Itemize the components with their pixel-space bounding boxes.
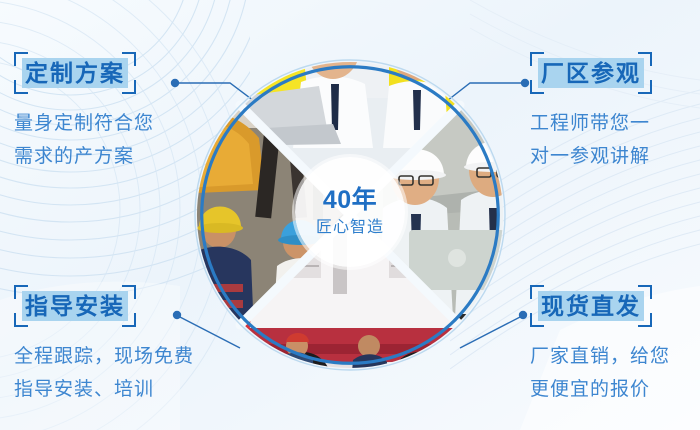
- badge-custom-solution[interactable]: 定制方案: [14, 52, 136, 94]
- center-headline: 40年: [323, 188, 377, 213]
- corner-bracket-top-right-icon: [638, 285, 652, 299]
- corner-bracket-bottom-left-icon: [14, 80, 28, 94]
- badge-label: 厂区参观: [541, 60, 641, 86]
- corner-bracket-bottom-right-icon: [638, 80, 652, 94]
- description-line: 厂家直销，给您: [530, 340, 670, 373]
- promo-banner: 40年 匠心智造 定制方案 量身定制符合您 需求的产方案 厂区参观 工程师带您一: [0, 0, 700, 430]
- description-line: 量身定制符合您: [14, 107, 154, 140]
- description-line: 需求的产方案: [14, 140, 154, 173]
- feature-description: 量身定制符合您 需求的产方案: [14, 107, 154, 173]
- corner-bracket-bottom-right-icon: [122, 313, 136, 327]
- corner-bracket-top-right-icon: [122, 52, 136, 66]
- feature-installation-guidance[interactable]: 指导安装 全程跟踪，现场免费 指导安装、培训: [14, 285, 194, 406]
- badge-in-stock-shipping[interactable]: 现货直发: [530, 285, 652, 327]
- corner-bracket-bottom-right-icon: [122, 80, 136, 94]
- corner-bracket-top-left-icon: [14, 52, 28, 66]
- badge-label: 指导安装: [25, 293, 125, 319]
- description-line: 工程师带您一: [530, 107, 652, 140]
- corner-bracket-bottom-left-icon: [530, 313, 544, 327]
- feature-description: 全程跟踪，现场免费 指导安装、培训: [14, 340, 194, 406]
- description-line: 全程跟踪，现场免费: [14, 340, 194, 373]
- corner-bracket-top-left-icon: [530, 285, 544, 299]
- feature-description: 工程师带您一 对一参观讲解: [530, 107, 652, 173]
- corner-bracket-top-left-icon: [14, 285, 28, 299]
- feature-factory-visit[interactable]: 厂区参观 工程师带您一 对一参观讲解: [530, 52, 652, 173]
- feature-description: 厂家直销，给您 更便宜的报价: [530, 340, 670, 406]
- corner-bracket-top-right-icon: [638, 52, 652, 66]
- badge-label: 定制方案: [25, 60, 125, 86]
- description-line: 指导安装、培训: [14, 373, 194, 406]
- corner-bracket-bottom-left-icon: [14, 313, 28, 327]
- feature-in-stock-shipping[interactable]: 现货直发 厂家直销，给您 更便宜的报价: [530, 285, 670, 406]
- description-line: 对一参观讲解: [530, 140, 652, 173]
- description-line: 更便宜的报价: [530, 373, 670, 406]
- badge-factory-visit[interactable]: 厂区参观: [530, 52, 652, 94]
- center-badge: 40年 匠心智造: [295, 157, 405, 267]
- badge-label: 现货直发: [541, 293, 641, 319]
- badge-installation-guidance[interactable]: 指导安装: [14, 285, 136, 327]
- corner-bracket-top-right-icon: [122, 285, 136, 299]
- corner-bracket-bottom-left-icon: [530, 80, 544, 94]
- corner-bracket-bottom-right-icon: [638, 313, 652, 327]
- feature-custom-solution[interactable]: 定制方案 量身定制符合您 需求的产方案: [14, 52, 154, 173]
- center-subline: 匠心智造: [316, 220, 384, 236]
- corner-bracket-top-left-icon: [530, 52, 544, 66]
